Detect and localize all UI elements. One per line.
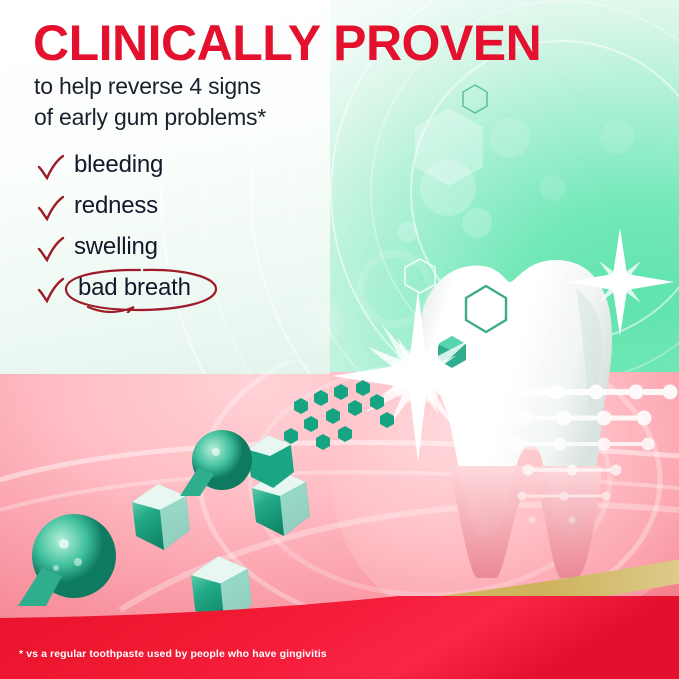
mineral-crystal-icon: [172, 424, 268, 510]
list-item: bleeding: [36, 150, 296, 191]
footnote-band: [0, 596, 679, 679]
subheading-line-2: of early gum problems*: [34, 102, 266, 133]
footnote-text: * vs a regular toothpaste used by people…: [19, 648, 327, 660]
list-item: bad breath: [36, 273, 296, 314]
list-item-label: bad breath: [78, 273, 191, 303]
list-item-label: redness: [74, 191, 158, 221]
hexagon-icon: [462, 84, 488, 114]
advertisement-banner: CLINICALLY PROVEN to help reverse 4 sign…: [0, 0, 679, 679]
molecule-dot-pattern: [498, 378, 679, 543]
list-item: redness: [36, 191, 296, 232]
subheading-line-1: to help reverse 4 signs: [34, 71, 266, 102]
benefits-checklist: bleeding redness swelling: [36, 150, 296, 314]
check-icon: [36, 195, 66, 223]
list-item-label: swelling: [74, 232, 158, 262]
page-title: CLINICALLY PROVEN: [33, 18, 541, 68]
hexagon-icon: [412, 106, 486, 188]
subheading: to help reverse 4 signs of early gum pro…: [34, 71, 266, 132]
check-icon: [36, 236, 66, 264]
check-icon: [36, 154, 66, 182]
list-item-label: bleeding: [74, 150, 163, 180]
